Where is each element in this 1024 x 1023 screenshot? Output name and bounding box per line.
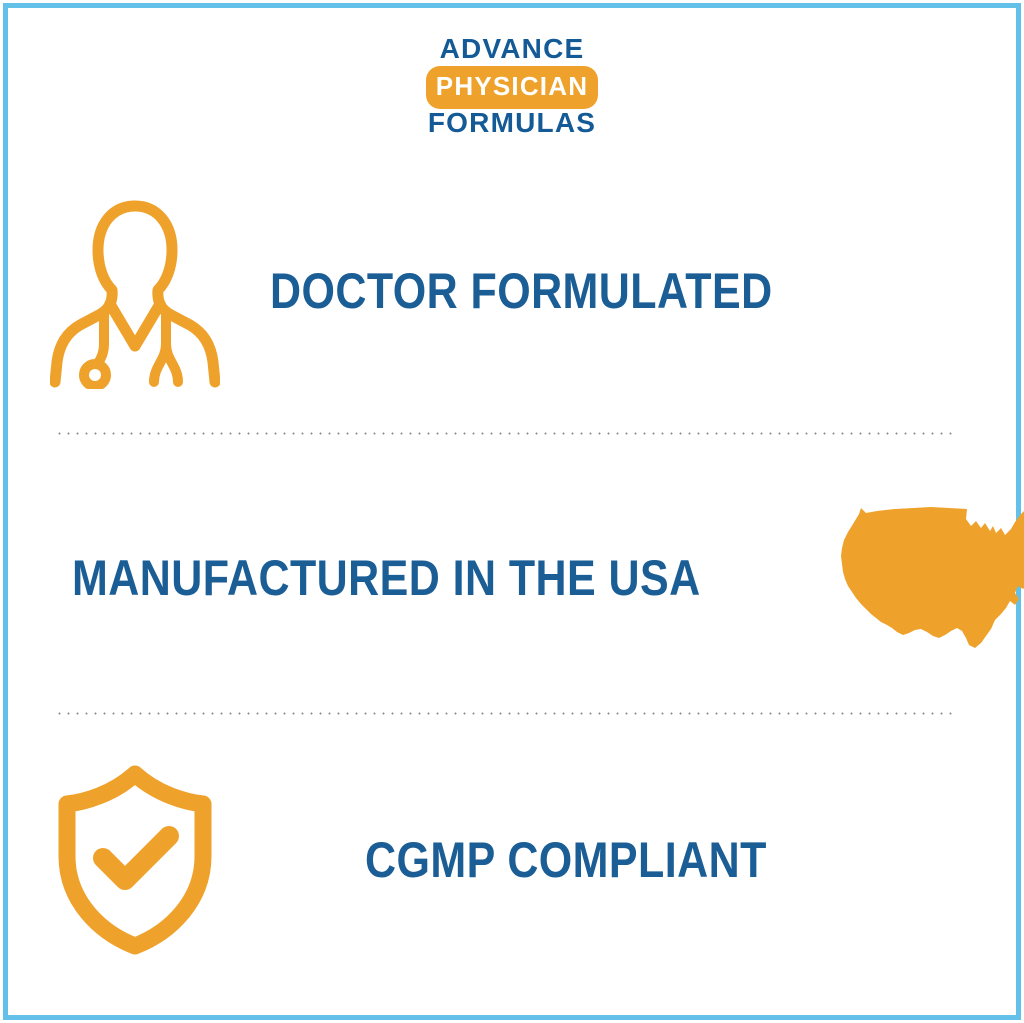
- feature-label-manufactured-in-the-usa: MANUFACTURED IN THE USA: [72, 549, 701, 607]
- usa-label-cell: MANUFACTURED IN THE USA: [0, 549, 803, 607]
- infographic-page: ADVANCE PHYSICIAN FORMULAS: [0, 0, 1024, 1023]
- logo-text-physician: PHYSICIAN: [422, 69, 602, 103]
- doctor-label-cell: DOCTOR FORMULATED: [270, 262, 1024, 320]
- usa-map-icon: [835, 502, 1024, 654]
- divider-1: [55, 432, 955, 435]
- logo-text-advance: ADVANCE: [422, 34, 602, 64]
- cgmp-label-cell: CGMP COMPLIANT: [270, 831, 1024, 889]
- brand-logo: ADVANCE PHYSICIAN FORMULAS: [0, 34, 1024, 144]
- feature-label-cgmp-compliant: CGMP COMPLIANT: [365, 831, 767, 889]
- cgmp-icon-cell: [0, 764, 270, 956]
- feature-label-doctor-formulated: DOCTOR FORMULATED: [270, 262, 773, 320]
- feature-row-doctor-formulated: DOCTOR FORMULATED: [0, 186, 1024, 396]
- divider-2: [55, 712, 955, 715]
- logo-text-formulas: FORMULAS: [422, 108, 602, 138]
- feature-row-cgmp-compliant: CGMP COMPLIANT: [0, 750, 1024, 970]
- doctor-icon-cell: [0, 194, 270, 389]
- usa-icon-cell: [803, 502, 1024, 654]
- shield-check-icon: [55, 764, 215, 956]
- doctor-stethoscope-icon: [50, 194, 220, 389]
- feature-row-manufactured-in-the-usa: MANUFACTURED IN THE USA: [0, 478, 1024, 678]
